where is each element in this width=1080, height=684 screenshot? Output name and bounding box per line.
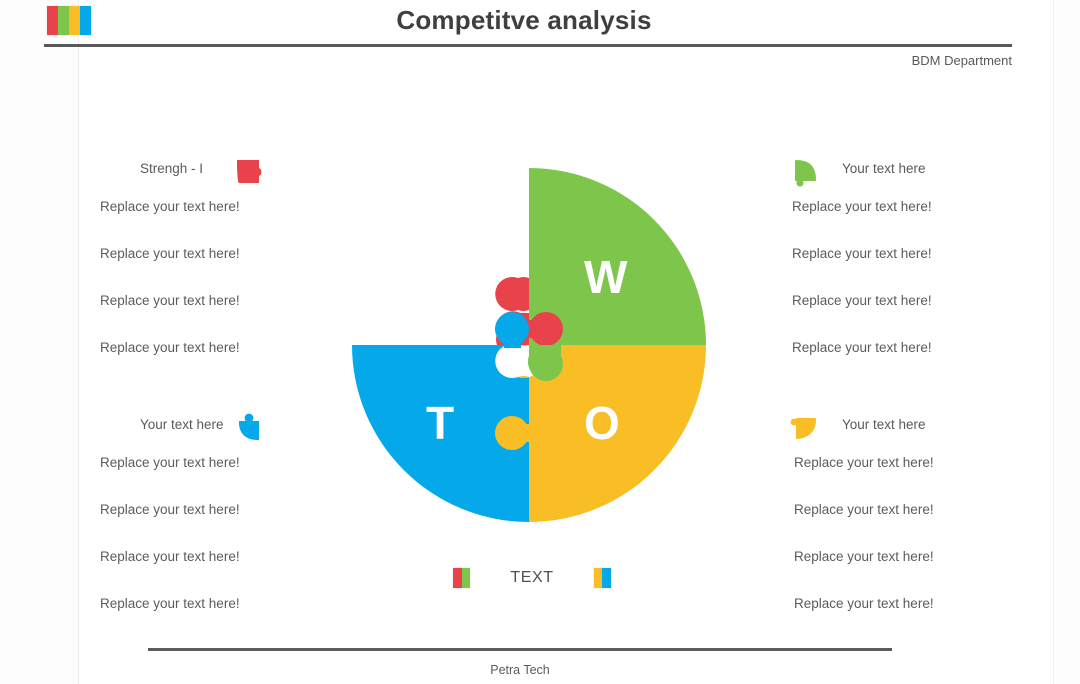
quadrant-text-threats: Your text here Replace your text here! R… bbox=[100, 411, 370, 641]
right-margin bbox=[1053, 0, 1080, 684]
quadrant-title-weaknesses: Your text here bbox=[842, 161, 926, 176]
quadrant-lines-strengths: Replace your text here! Replace your tex… bbox=[100, 197, 370, 385]
text-line[interactable]: Replace your text here! bbox=[780, 453, 1050, 500]
puzzle-piece-yellow-icon bbox=[788, 411, 822, 445]
header-divider bbox=[44, 44, 1012, 47]
text-line[interactable]: Replace your text here! bbox=[100, 244, 370, 291]
quadrant-title-threats: Your text here bbox=[140, 417, 224, 432]
text-line[interactable]: Replace your text here! bbox=[780, 547, 1050, 594]
quadrant-lines-opportunities: Replace your text here! Replace your tex… bbox=[780, 453, 1050, 641]
text-line[interactable]: Replace your text here! bbox=[100, 547, 370, 594]
text-line[interactable]: Replace your text here! bbox=[100, 291, 370, 338]
puzzle-knob-yellow-neck bbox=[520, 424, 536, 442]
text-line[interactable]: Replace your text here! bbox=[100, 594, 370, 641]
legend-bar-green bbox=[462, 568, 471, 588]
text-line[interactable]: Replace your text here! bbox=[780, 594, 1050, 641]
quadrant-heading-threats: Your text here bbox=[100, 411, 370, 451]
quadrant-lines-weaknesses: Replace your text here! Replace your tex… bbox=[780, 197, 1050, 385]
department-label: BDM Department bbox=[912, 53, 1012, 68]
text-line[interactable]: Replace your text here! bbox=[100, 500, 370, 547]
slide-canvas: Competitve analysis BDM Department Stren… bbox=[0, 0, 1080, 684]
quadrant-text-strengths: Strengh - I Replace your text here! Repl… bbox=[100, 155, 370, 385]
legend-swatch-right bbox=[593, 567, 612, 589]
puzzle-knob-blue-neck bbox=[504, 328, 521, 348]
legend-label: TEXT bbox=[510, 569, 553, 587]
quadrant-heading-strengths: Strengh - I bbox=[100, 155, 370, 195]
text-line[interactable]: Replace your text here! bbox=[780, 197, 1050, 244]
legend-bar-yellow bbox=[594, 568, 603, 588]
text-line[interactable]: Replace your text here! bbox=[780, 338, 1050, 385]
page-title: Competitve analysis bbox=[0, 0, 1048, 37]
text-line[interactable]: Replace your text here! bbox=[100, 453, 370, 500]
swot-puzzle-diagram: S W T O bbox=[352, 168, 706, 522]
puzzle-knob-green-neck bbox=[537, 345, 555, 361]
quadrant-title-opportunities: Your text here bbox=[842, 417, 926, 432]
puzzle-piece-blue-icon bbox=[232, 411, 266, 445]
puzzle-piece-red-icon bbox=[232, 155, 266, 189]
quadrant-heading-weaknesses: Your text here bbox=[780, 155, 1050, 195]
left-margin bbox=[0, 0, 79, 684]
puzzle-piece-green-icon bbox=[788, 155, 822, 189]
quadrant-text-opportunities: Your text here Replace your text here! R… bbox=[780, 411, 1050, 641]
text-line[interactable]: Replace your text here! bbox=[780, 244, 1050, 291]
quadrant-heading-opportunities: Your text here bbox=[780, 411, 1050, 451]
footer-label: Petra Tech bbox=[148, 663, 892, 677]
legend-bar-blue bbox=[602, 568, 611, 588]
text-line[interactable]: Replace your text here! bbox=[100, 338, 370, 385]
quadrant-title-strengths: Strengh - I bbox=[140, 161, 203, 176]
text-line[interactable]: Replace your text here! bbox=[780, 500, 1050, 547]
legend-swatch-left bbox=[452, 567, 471, 589]
quadrant-text-weaknesses: Your text here Replace your text here! R… bbox=[780, 155, 1050, 385]
text-line[interactable]: Replace your text here! bbox=[100, 197, 370, 244]
footer-divider bbox=[148, 648, 892, 651]
bottom-legend: TEXT bbox=[452, 563, 612, 593]
legend-bar-red bbox=[453, 568, 462, 588]
quadrant-lines-threats: Replace your text here! Replace your tex… bbox=[100, 453, 370, 641]
text-line[interactable]: Replace your text here! bbox=[780, 291, 1050, 338]
